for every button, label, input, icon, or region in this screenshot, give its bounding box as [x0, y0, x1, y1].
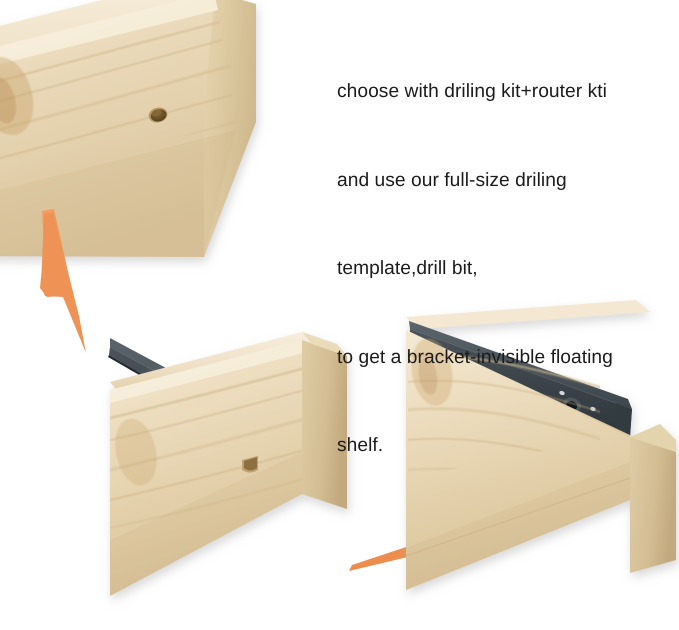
caption-line-4: to get a bracket-invisible floating [337, 343, 677, 373]
caption-line-2: and use our full-size driling [337, 166, 677, 196]
caption-line-3: template,drill bit, [337, 254, 677, 284]
instruction-caption: choose with driling kit+router kti and u… [337, 18, 677, 520]
caption-line-5: shelf. [337, 431, 677, 461]
caption-line-1: choose with driling kit+router kti [337, 77, 677, 107]
step-1-drilled-plank [0, 0, 256, 257]
instruction-graphic-canvas: choose with driling kit+router kti and u… [0, 0, 679, 630]
